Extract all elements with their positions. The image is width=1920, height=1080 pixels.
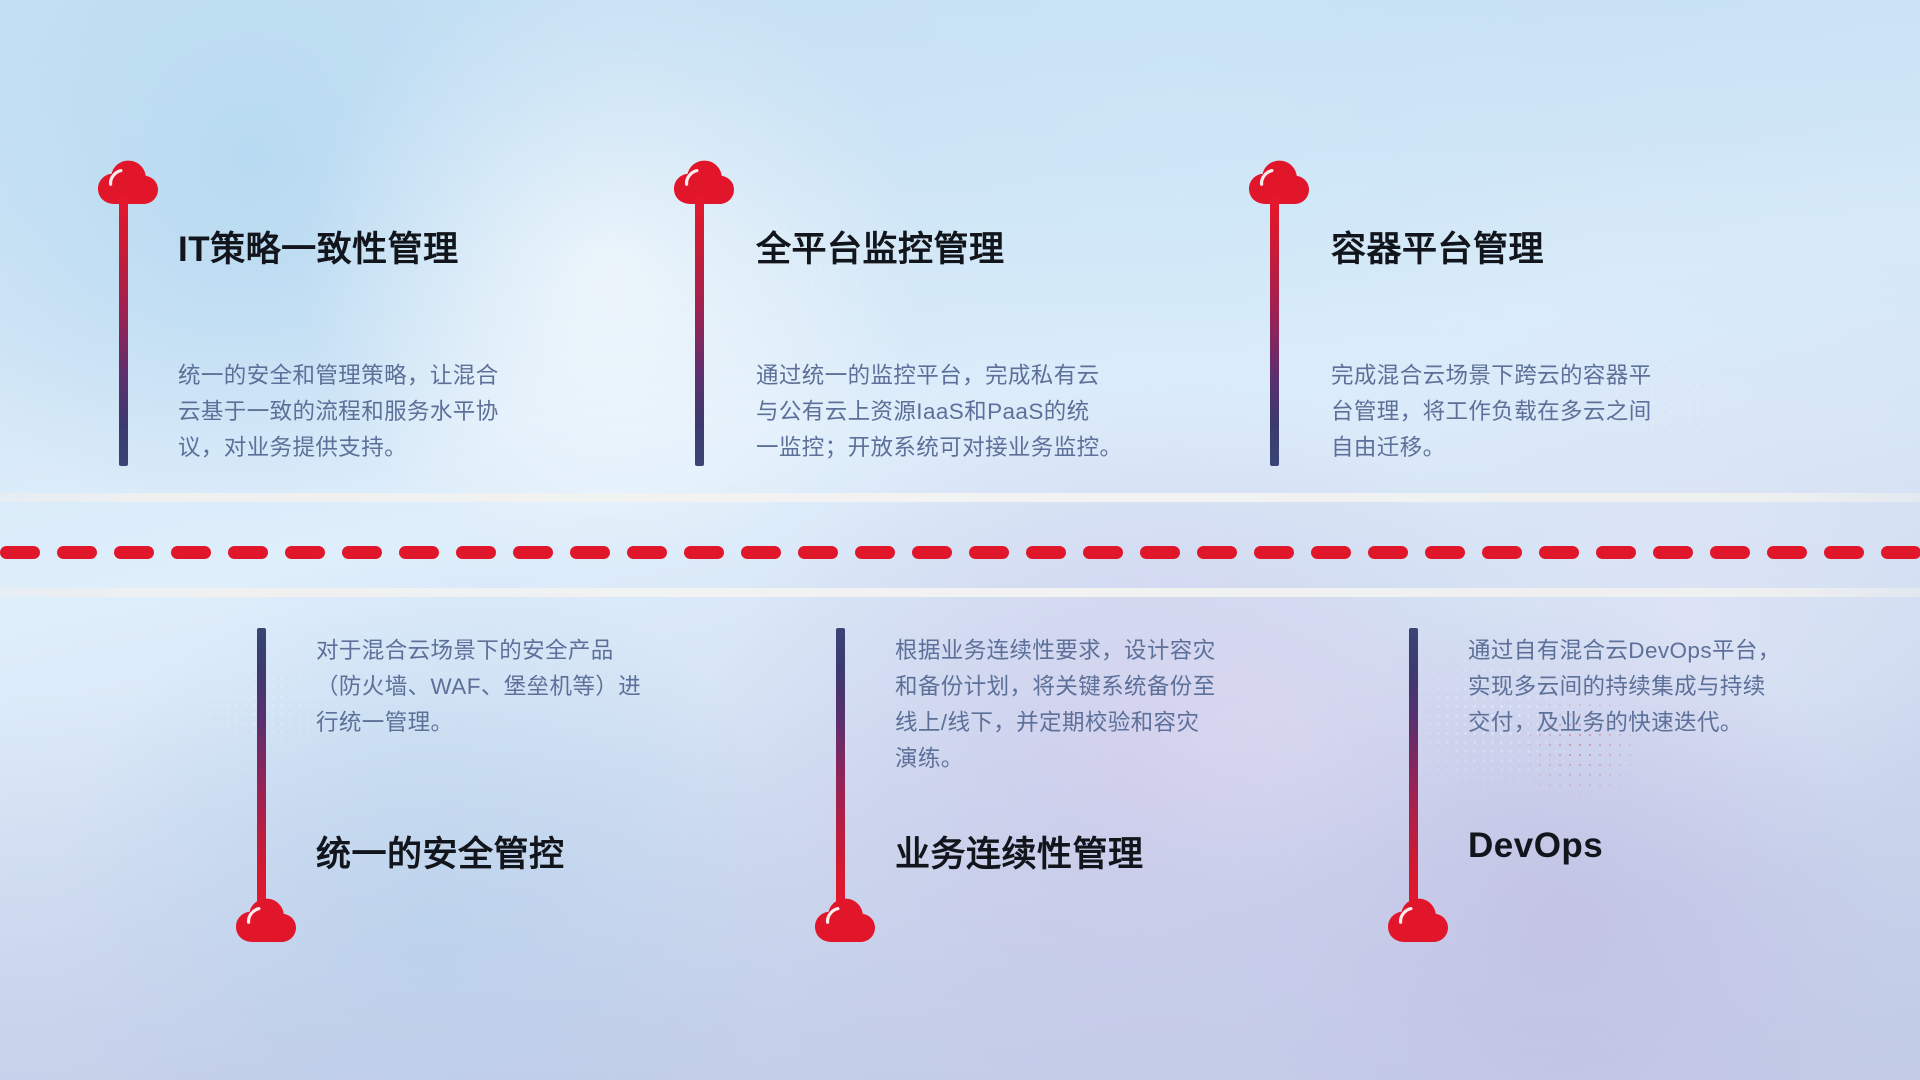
divider-dash <box>1710 546 1750 559</box>
divider-dash <box>513 546 553 559</box>
divider-dash <box>627 546 667 559</box>
card-title: 全平台监控管理 <box>756 221 1005 272</box>
cloud-icon <box>673 160 735 206</box>
card-body: 通过自有混合云DevOps平台， 实现多云间的持续集成与持续 交付，及业务的快速… <box>1468 633 1781 741</box>
divider-dash <box>114 546 154 559</box>
body-line: 线上/线下，并定期校验和容灾 <box>895 705 1216 741</box>
divider-dash <box>1368 546 1408 559</box>
body-line: 根据业务连续性要求，设计容灾 <box>895 633 1216 669</box>
divider-dash <box>1539 546 1579 559</box>
divider-dash <box>1482 546 1522 559</box>
card-title: IT策略一致性管理 <box>178 221 459 272</box>
body-line: 演练。 <box>895 741 1216 777</box>
divider-bar-top <box>0 493 1920 502</box>
connector-stem <box>1270 196 1279 466</box>
dashed-divider <box>0 546 1920 559</box>
divider-dash <box>1767 546 1807 559</box>
body-line: 云基于一致的流程和服务水平协 <box>178 394 499 430</box>
divider-dash <box>1197 546 1237 559</box>
body-line: 台管理，将工作负载在多云之间 <box>1331 394 1652 430</box>
card-title: 统一的安全管控 <box>316 826 565 877</box>
card-body: 对于混合云场景下的安全产品 （防火墙、WAF、堡垒机等）进 行统一管理。 <box>316 633 641 741</box>
divider-dash <box>1425 546 1465 559</box>
divider-dash <box>1596 546 1636 559</box>
cloud-icon <box>97 160 159 206</box>
divider-dash <box>342 546 382 559</box>
infographic-canvas: IT策略一致性管理 统一的安全和管理策略，让混合 云基于一致的流程和服务水平协 … <box>0 0 1920 1080</box>
connector-stem <box>1409 628 1418 908</box>
body-line: 与公有云上资源IaaS和PaaS的统 <box>756 394 1122 430</box>
divider-dash <box>285 546 325 559</box>
divider-dash <box>171 546 211 559</box>
cloud-icon <box>814 898 876 944</box>
divider-dash <box>1026 546 1066 559</box>
card-body: 根据业务连续性要求，设计容灾 和备份计划，将关键系统备份至 线上/线下，并定期校… <box>895 633 1216 777</box>
divider-dash <box>855 546 895 559</box>
divider-dash <box>456 546 496 559</box>
divider-dash <box>912 546 952 559</box>
card-body: 通过统一的监控平台，完成私有云 与公有云上资源IaaS和PaaS的统 一监控；开… <box>756 358 1122 466</box>
body-line: 自由迁移。 <box>1331 430 1652 466</box>
divider-dash <box>57 546 97 559</box>
body-line: 通过统一的监控平台，完成私有云 <box>756 358 1122 394</box>
card-title: 业务连续性管理 <box>895 826 1144 877</box>
divider-dash <box>1881 546 1920 559</box>
body-line: 行统一管理。 <box>316 705 641 741</box>
connector-stem <box>695 196 704 466</box>
card-body: 统一的安全和管理策略，让混合 云基于一致的流程和服务水平协 议，对业务提供支持。 <box>178 358 499 466</box>
dot-texture-upper-mid <box>690 190 940 360</box>
divider-dash <box>1140 546 1180 559</box>
divider-bar-bottom <box>0 588 1920 597</box>
body-line: 议，对业务提供支持。 <box>178 430 499 466</box>
divider-dash <box>684 546 724 559</box>
body-line: 通过自有混合云DevOps平台， <box>1468 633 1781 669</box>
body-line: 一监控；开放系统可对接业务监控。 <box>756 430 1122 466</box>
body-line: 对于混合云场景下的安全产品 <box>316 633 641 669</box>
divider-dash <box>570 546 610 559</box>
body-line: 和备份计划，将关键系统备份至 <box>895 669 1216 705</box>
cloud-icon <box>1387 898 1449 944</box>
body-line: （防火墙、WAF、堡垒机等）进 <box>316 669 641 705</box>
divider-dash <box>0 546 40 559</box>
divider-dash <box>1083 546 1123 559</box>
divider-dash <box>1254 546 1294 559</box>
divider-dash <box>1311 546 1351 559</box>
divider-dash <box>228 546 268 559</box>
connector-stem <box>257 628 266 908</box>
card-title: DevOps <box>1468 826 1603 866</box>
cloud-icon <box>1248 160 1310 206</box>
connector-stem <box>119 196 128 466</box>
connector-stem <box>836 628 845 908</box>
body-line: 完成混合云场景下跨云的容器平 <box>1331 358 1652 394</box>
card-body: 完成混合云场景下跨云的容器平 台管理，将工作负载在多云之间 自由迁移。 <box>1331 358 1652 466</box>
card-title: 容器平台管理 <box>1331 221 1544 272</box>
divider-dash <box>1824 546 1864 559</box>
divider-dash <box>969 546 1009 559</box>
divider-dash <box>1653 546 1693 559</box>
divider-dash <box>741 546 781 559</box>
divider-dash <box>798 546 838 559</box>
body-line: 实现多云间的持续集成与持续 <box>1468 669 1781 705</box>
body-line: 交付，及业务的快速迭代。 <box>1468 705 1781 741</box>
body-line: 统一的安全和管理策略，让混合 <box>178 358 499 394</box>
divider-dash <box>399 546 439 559</box>
cloud-icon <box>235 898 297 944</box>
